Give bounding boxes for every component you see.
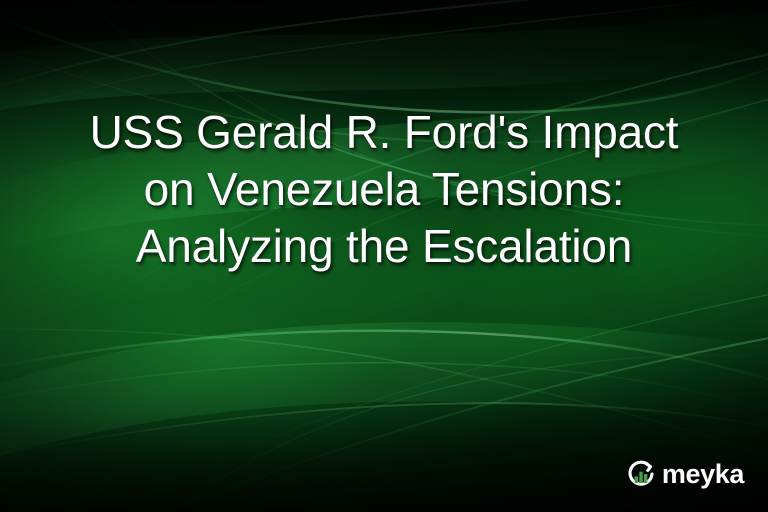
title-line-2: on Venezuela Tensions:: [38, 161, 730, 218]
wave-stroke-3: [0, 6, 768, 112]
title-line-3: Analyzing the Escalation: [38, 218, 730, 275]
wave-stroke-10: [0, 363, 768, 424]
title-line-1: USS Gerald R. Ford's Impact: [38, 104, 730, 161]
wave-stroke-11: [0, 403, 768, 460]
meyka-wordmark: meyka: [662, 461, 744, 488]
wave-stroke-1: [0, 0, 768, 96]
page-title: USS Gerald R. Ford's Impact on Venezuela…: [0, 104, 768, 275]
wave-stroke-14: [0, 329, 768, 472]
wave-stroke-9: [0, 331, 768, 392]
wave-band-top: [0, 6, 768, 118]
meyka-circle-bars-logo-icon: [625, 458, 657, 490]
meyka-logo[interactable]: meyka: [625, 458, 744, 490]
lower-dark-lens: [30, 356, 630, 512]
social-card: USS Gerald R. Ford's Impact on Venezuela…: [0, 0, 768, 512]
wave-band-lower: [0, 322, 768, 468]
